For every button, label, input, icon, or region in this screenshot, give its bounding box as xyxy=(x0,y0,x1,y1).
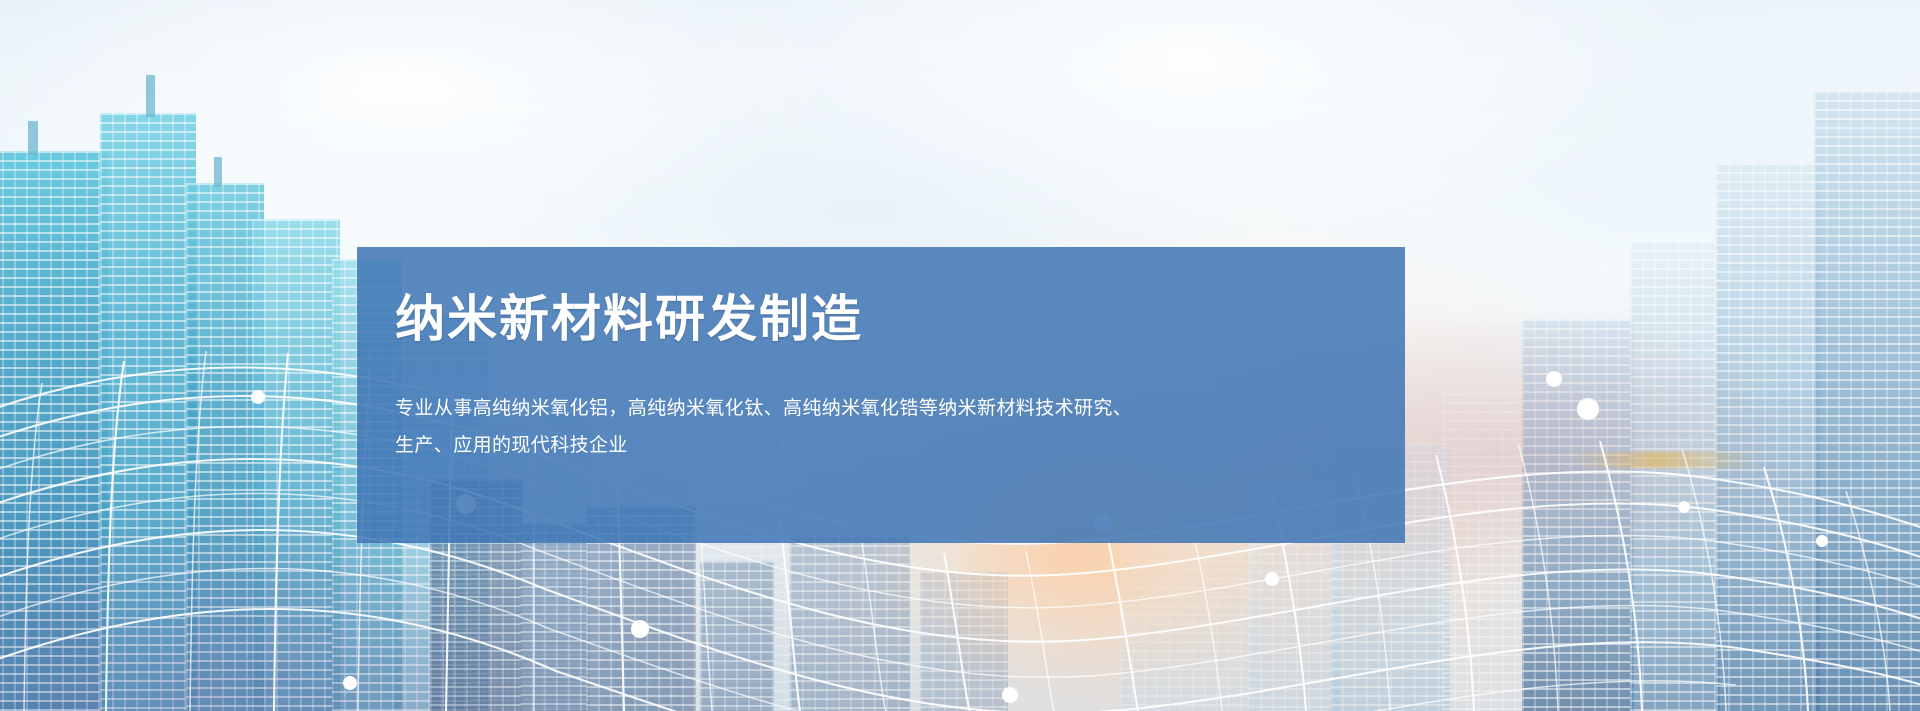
mesh-node xyxy=(343,676,357,690)
mesh-node xyxy=(251,390,265,404)
page-subtitle: 专业从事高纯纳米氧化铝，高纯纳米氧化钛、高纯纳米氧化锆等纳米新材料技术研究、 生… xyxy=(395,390,1195,464)
mesh-node xyxy=(631,620,649,638)
page-title: 纳米新材料研发制造 xyxy=(395,293,1365,346)
mesh-node xyxy=(1577,398,1599,420)
building-crown-1 xyxy=(28,121,38,155)
mesh-node xyxy=(1002,687,1018,703)
mesh-node xyxy=(1265,572,1279,586)
hero-text-panel: 纳米新材料研发制造 专业从事高纯纳米氧化铝，高纯纳米氧化钛、高纯纳米氧化锆等纳米… xyxy=(357,247,1405,543)
mesh-node xyxy=(1546,371,1562,387)
building-crown-2 xyxy=(146,75,155,117)
mesh-node xyxy=(1678,501,1690,513)
page-subtitle-line-2: 生产、应用的现代科技企业 xyxy=(395,427,1195,464)
mesh-node xyxy=(1816,535,1828,547)
building-crown-3 xyxy=(214,157,222,187)
hero-banner: 纳米新材料研发制造 专业从事高纯纳米氧化铝，高纯纳米氧化钛、高纯纳米氧化锆等纳米… xyxy=(0,0,1920,711)
page-subtitle-line-1: 专业从事高纯纳米氧化铝，高纯纳米氧化钛、高纯纳米氧化锆等纳米新材料技术研究、 xyxy=(395,390,1195,427)
